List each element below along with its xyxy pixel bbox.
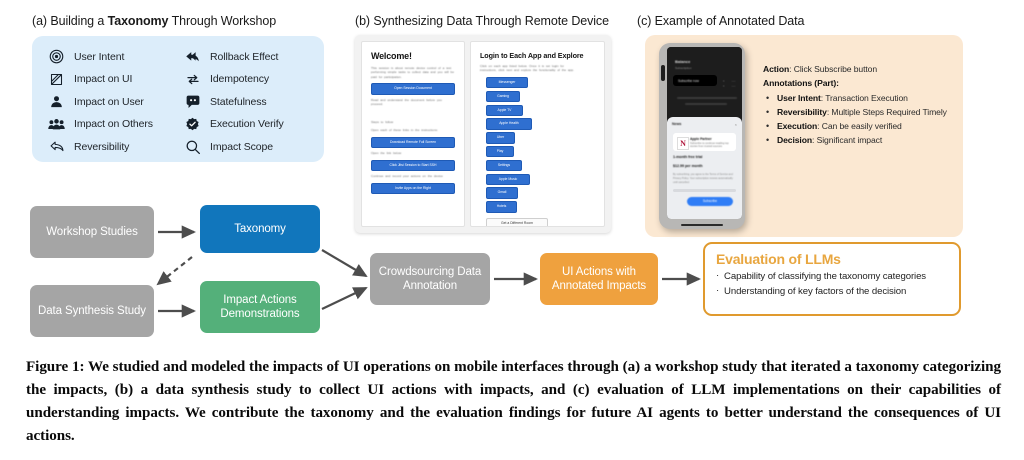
welcome-paragraph: This session is about remote device cont… bbox=[371, 66, 455, 79]
phone-divider bbox=[673, 189, 736, 192]
welcome-note-2: Open the link below bbox=[371, 151, 455, 155]
app-button[interactable]: Apple Music bbox=[486, 174, 530, 185]
panel-c-title: (c) Example of Annotated Data bbox=[637, 14, 804, 28]
phone-terms-text: By subscribing, you agree to the Terms o… bbox=[673, 173, 736, 184]
phone-offer-card: N Apple Partner Subscribe to continue re… bbox=[673, 133, 736, 151]
target-icon bbox=[48, 48, 65, 65]
taxonomy-label: Reversibility bbox=[74, 141, 129, 153]
annotations-heading: Annotations (Part): bbox=[763, 77, 953, 91]
taxonomy-label: Execution Verify bbox=[210, 118, 284, 130]
welcome-heading: Welcome! bbox=[371, 51, 455, 61]
annotation-item-label: Execution bbox=[777, 121, 817, 131]
node-workshop-studies[interactable]: Workshop Studies bbox=[30, 206, 154, 258]
annotation-item-value: : Can be easily verified bbox=[817, 121, 902, 131]
phone-volume-button bbox=[661, 65, 665, 81]
phone-screen: Balance Subscription Subscribe now • — •… bbox=[667, 47, 742, 219]
node-crowdsourcing-data-annotation[interactable]: Crowdsourcing Data Annotation bbox=[370, 253, 490, 305]
taxonomy-item-rollback-effect: Rollback Effect bbox=[184, 46, 324, 68]
edit-square-icon bbox=[48, 71, 65, 88]
annotation-action-label: Action bbox=[763, 64, 789, 74]
phone-nav-dots: • — • — bbox=[723, 78, 742, 88]
login-apps-heading: Login to Each App and Explore bbox=[480, 51, 595, 60]
taxonomy-label: Idempotency bbox=[210, 73, 269, 85]
taxonomy-item-idempotency: Idempotency bbox=[184, 69, 324, 91]
evaluation-bullet-text: Capability of classifying the taxonomy c… bbox=[724, 271, 926, 282]
taxonomy-label: User Intent bbox=[74, 51, 124, 63]
undo-arrow-icon bbox=[48, 138, 65, 155]
figure-caption: Figure 1: We studied and modeled the imp… bbox=[26, 356, 1001, 448]
node-ui-actions-annotated-impacts[interactable]: UI Actions with Annotated Impacts bbox=[540, 253, 658, 305]
annotation-list-item: •Decision: Significant impact bbox=[763, 134, 953, 148]
taxonomy-label: Impact Scope bbox=[210, 141, 273, 153]
phone-text-line bbox=[685, 103, 727, 105]
pipeline-flowchart: Workshop Studies Data Synthesis Study Ta… bbox=[0, 196, 1024, 346]
taxonomy-label: Rollback Effect bbox=[210, 51, 278, 63]
app-button[interactable]: Apple Health bbox=[486, 118, 532, 129]
taxonomy-item-execution-verify: Execution Verify bbox=[184, 114, 324, 136]
taxonomy-item-user-intent: User Intent bbox=[48, 46, 184, 68]
phone-subscribe-pill-label: Subscribe now bbox=[678, 79, 699, 83]
person-icon bbox=[48, 93, 65, 110]
phone-card-title: Apple Partner bbox=[690, 137, 712, 141]
annotation-list-item: •Reversibility: Multiple Steps Required … bbox=[763, 106, 953, 120]
news-logo-icon: N bbox=[677, 137, 689, 150]
taxonomy-card: User Intent Impact on UI Impact on User … bbox=[32, 36, 324, 162]
annotation-action: Action: Click Subscribe button bbox=[763, 63, 953, 77]
taxonomy-label: Impact on Others bbox=[74, 118, 153, 130]
steps-subheading: Steps to follow bbox=[371, 120, 455, 124]
bullet-icon: · bbox=[716, 284, 719, 299]
annotation-item-value: : Significant impact bbox=[812, 135, 882, 145]
app-button[interactable]: Uber bbox=[486, 132, 515, 143]
phone-subscribe-pill[interactable]: Subscribe now bbox=[673, 75, 717, 86]
annotation-list-item: •Execution: Can be easily verified bbox=[763, 120, 953, 134]
bullet-icon: • bbox=[766, 91, 769, 106]
annotations-heading-label: Annotations (Part): bbox=[763, 78, 839, 88]
chat-bubble-icon bbox=[184, 93, 201, 110]
taxonomy-item-statefulness: Statefulness bbox=[184, 91, 324, 113]
people-group-icon bbox=[48, 116, 65, 133]
bullet-icon: · bbox=[716, 269, 719, 284]
invite-apps-button[interactable]: Invite Apps on the Right bbox=[371, 183, 455, 194]
annotation-list: •User Intent: Transaction Execution •Rev… bbox=[763, 92, 953, 148]
phone-sheet-title: News bbox=[672, 122, 681, 126]
annotation-item-value: : Multiple Steps Required Timely bbox=[827, 107, 947, 117]
panel-b-title: (b) Synthesizing Data Through Remote Dev… bbox=[355, 14, 609, 28]
phone-card-subtitle: Subscribe to continue reading top storie… bbox=[690, 142, 736, 149]
evaluation-title: Evaluation of LLMs bbox=[716, 251, 948, 267]
node-data-synthesis-study[interactable]: Data Synthesis Study bbox=[30, 285, 154, 337]
annotation-action-value: : Click Subscribe button bbox=[789, 64, 877, 74]
steps-subnote: Open each of these links in the instruct… bbox=[371, 128, 455, 132]
phone-dark-subtitle: Subscription bbox=[675, 66, 692, 70]
annotation-list-item: •User Intent: Transaction Execution bbox=[763, 92, 953, 106]
download-remote-fullscreen-button[interactable]: Download Remote Full Screen bbox=[371, 137, 455, 148]
magnifier-icon bbox=[184, 138, 201, 155]
bullet-icon: • bbox=[766, 105, 769, 120]
evaluation-bullet-item: ·Understanding of key factors of the dec… bbox=[716, 285, 948, 300]
taxonomy-item-reversibility: Reversibility bbox=[48, 136, 184, 158]
evaluation-bullet-text: Understanding of key factors of the deci… bbox=[724, 286, 906, 297]
taxonomy-label: Statefulness bbox=[210, 96, 267, 108]
annotation-item-label: Decision bbox=[777, 135, 812, 145]
annotation-block: Action: Click Subscribe button Annotatio… bbox=[763, 63, 953, 148]
annotation-item-label: User Intent bbox=[777, 93, 821, 103]
app-button[interactable]: Messenger bbox=[486, 77, 528, 88]
app-button[interactable]: Play bbox=[486, 146, 514, 157]
taxonomy-column-left: User Intent Impact on UI Impact on User … bbox=[48, 46, 184, 158]
open-session-document-button[interactable]: Open Session Document bbox=[371, 83, 455, 94]
figure-root: (a) Building a Taxonomy Through Workshop… bbox=[0, 0, 1024, 460]
taxonomy-item-impact-on-others: Impact on Others bbox=[48, 114, 184, 136]
taxonomy-column-right: Rollback Effect Idempotency Statefulness… bbox=[184, 46, 324, 158]
evaluation-bullet-item: ·Capability of classifying the taxonomy … bbox=[716, 270, 948, 285]
phone-dark-title: Balance bbox=[675, 59, 690, 64]
app-button[interactable]: Apple TV bbox=[486, 105, 523, 116]
verified-badge-icon bbox=[184, 116, 201, 133]
panel-a-title-bold: Taxonomy bbox=[108, 14, 169, 28]
taxonomy-label: Impact on User bbox=[74, 96, 144, 108]
app-button[interactable]: Gaming bbox=[486, 91, 520, 102]
taxonomy-item-impact-scope: Impact Scope bbox=[184, 136, 324, 158]
annotation-item-value: : Transaction Execution bbox=[821, 93, 908, 103]
bullet-icon: • bbox=[766, 119, 769, 134]
start-ssh-session-button[interactable]: Click Jitsi Session to Start SSH bbox=[371, 160, 455, 171]
rewind-icon bbox=[184, 48, 201, 65]
welcome-note-1: Read and understand the document before … bbox=[371, 98, 455, 107]
repeat-arrows-icon bbox=[184, 71, 201, 88]
taxonomy-item-impact-on-ui: Impact on UI bbox=[48, 69, 184, 91]
annotation-item-label: Reversibility bbox=[777, 107, 827, 117]
phone-text-line bbox=[677, 97, 737, 99]
bullet-icon: • bbox=[766, 133, 769, 148]
phone-price-text: $12.99 per month bbox=[673, 164, 703, 168]
login-apps-paragraph: Click on each app listed below. Once it … bbox=[480, 64, 578, 73]
node-impact-actions-demonstrations[interactable]: Impact Actions Demonstrations bbox=[200, 281, 320, 333]
welcome-note-3: Continue and record your actions on the … bbox=[371, 174, 455, 178]
panel-a-title-prefix: (a) Building a bbox=[32, 14, 108, 28]
phone-trial-text: 1-month free trial bbox=[673, 155, 702, 159]
node-evaluation-of-llms[interactable]: Evaluation of LLMs ·Capability of classi… bbox=[703, 242, 961, 316]
node-taxonomy[interactable]: Taxonomy bbox=[200, 205, 320, 253]
app-button[interactable]: Settings bbox=[486, 160, 522, 171]
panel-a-title: (a) Building a Taxonomy Through Workshop bbox=[32, 14, 324, 28]
panel-a-title-suffix: Through Workshop bbox=[168, 14, 276, 28]
close-icon[interactable]: × bbox=[735, 122, 737, 127]
taxonomy-label: Impact on UI bbox=[74, 73, 132, 85]
taxonomy-item-impact-on-user: Impact on User bbox=[48, 91, 184, 113]
